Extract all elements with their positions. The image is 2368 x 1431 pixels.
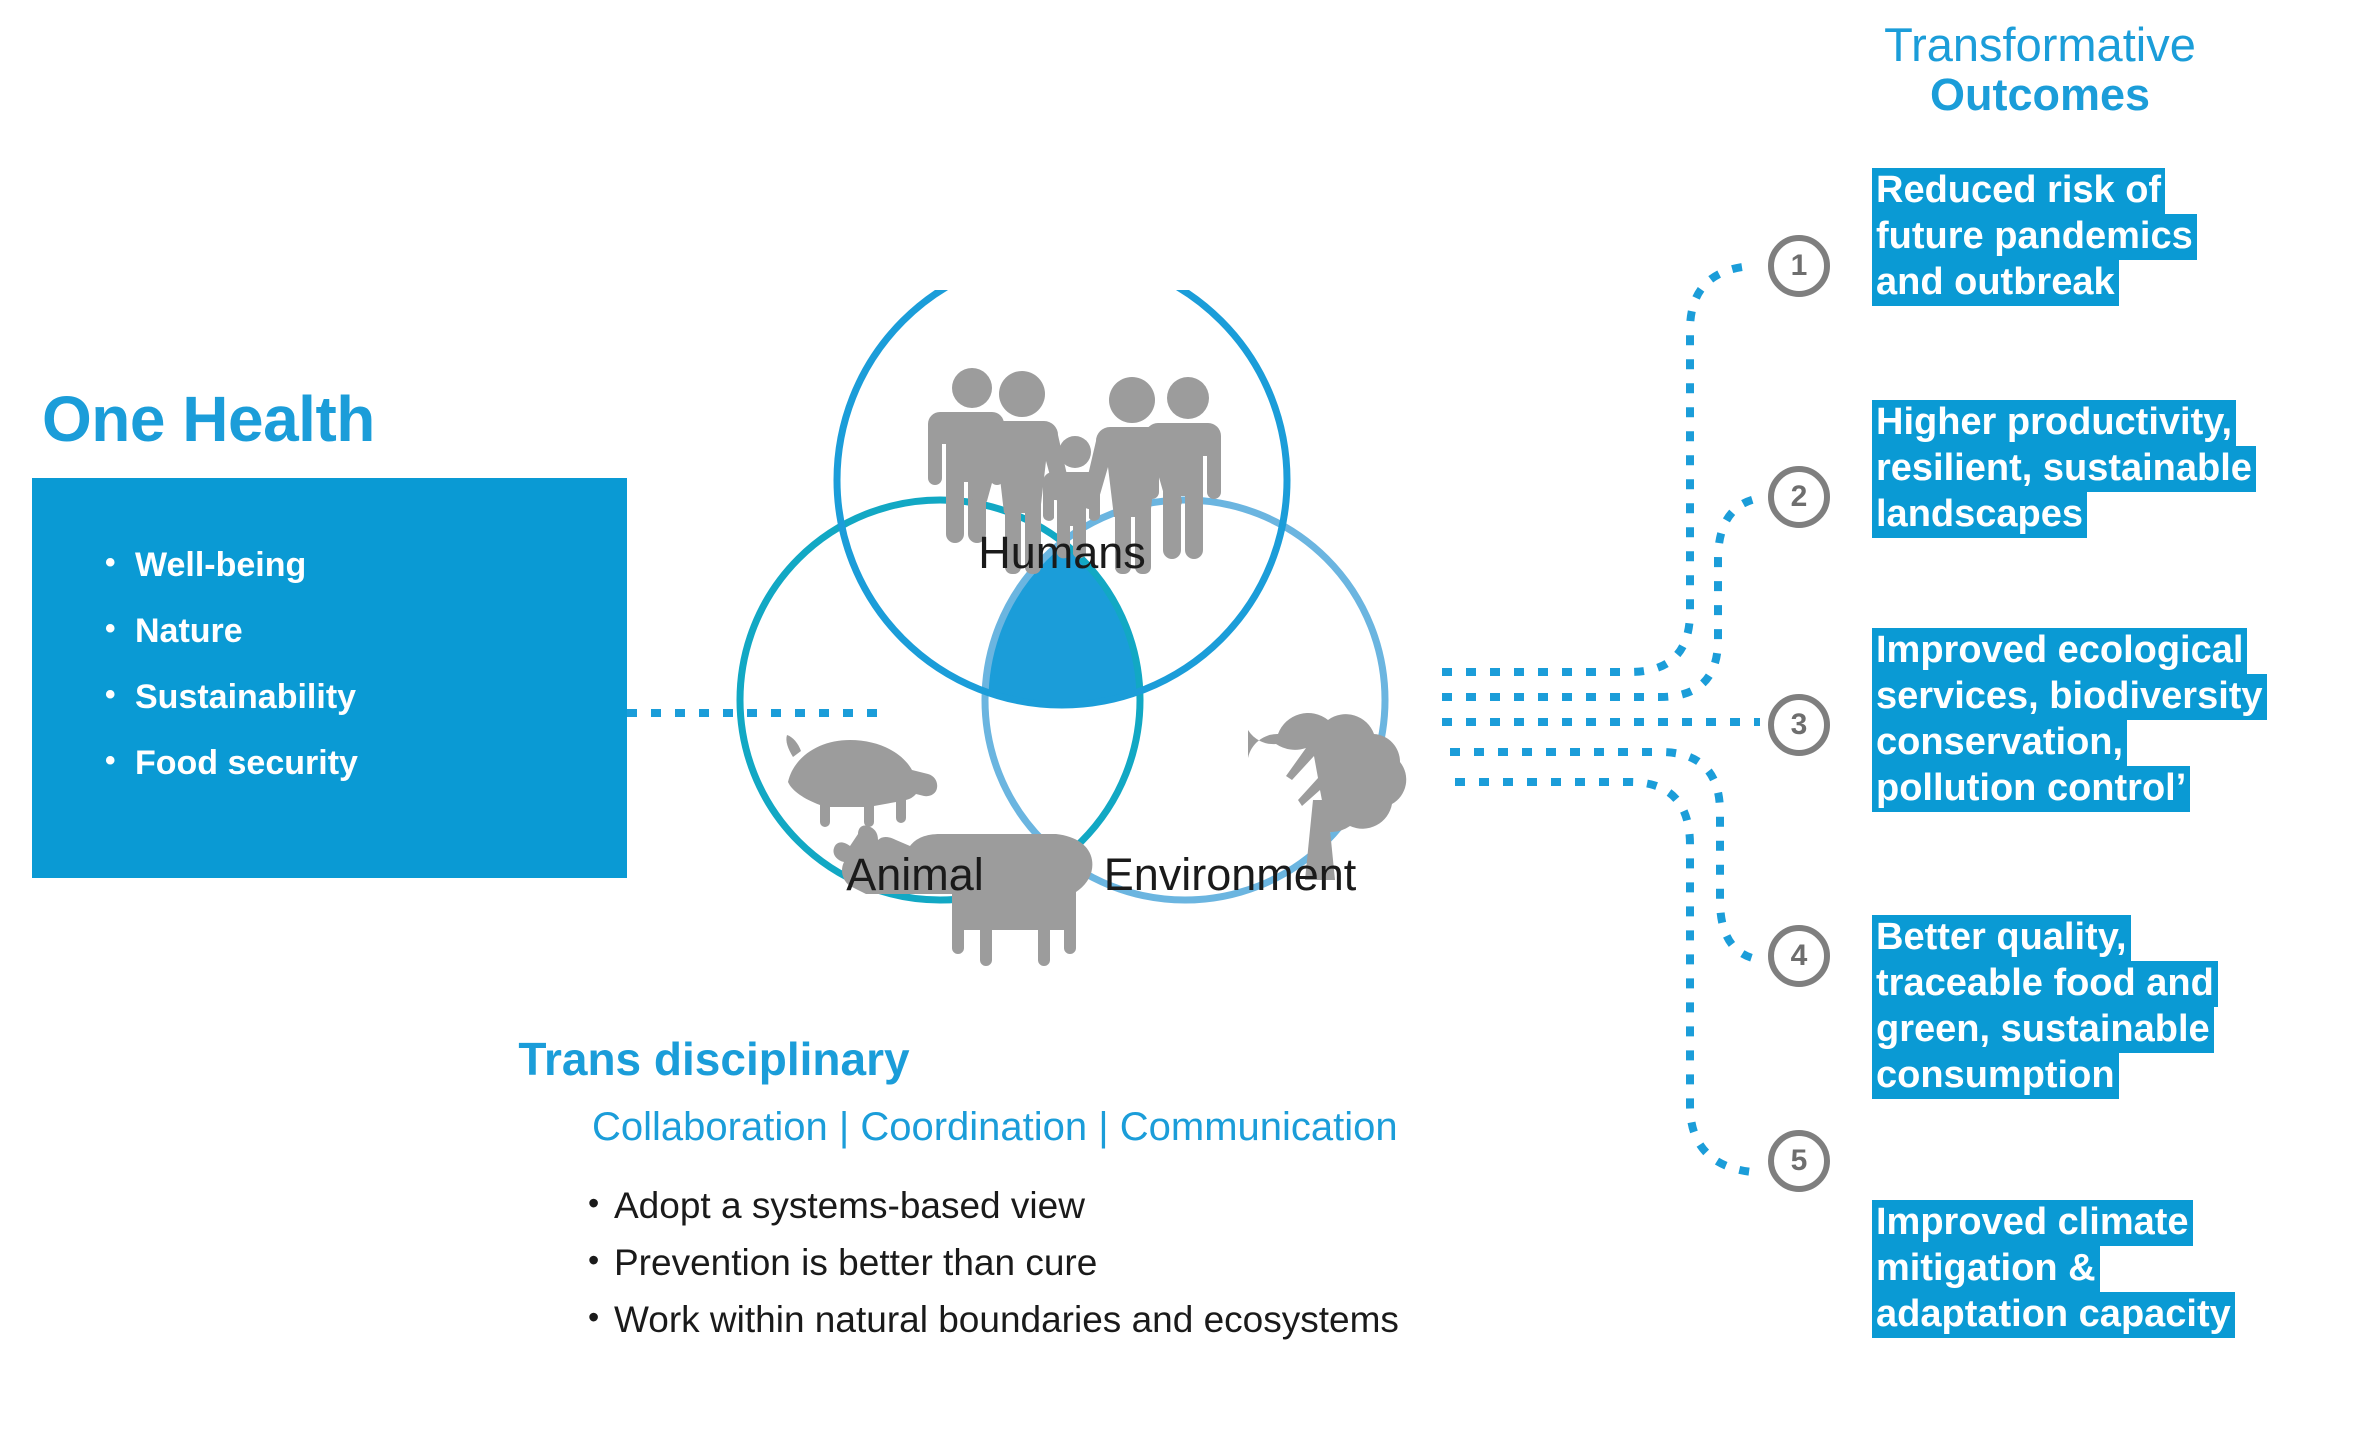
outcome-line: green, sustainable xyxy=(1872,1007,2214,1053)
outcome-line: pollution control’ xyxy=(1872,766,2190,812)
outcome-line: Better quality, xyxy=(1872,915,2131,961)
venn-diagram: Humans Animal Environment xyxy=(700,290,1420,1030)
diagram-canvas: One Health • Well-being • Nature • Susta… xyxy=(0,0,2368,1431)
trans-disciplinary-subtitle: Collaboration | Coordination | Communica… xyxy=(592,1105,1398,1150)
outcomes-header-line2: Outcomes xyxy=(1830,71,2250,120)
list-item: • Adopt a systems-based view xyxy=(588,1185,1408,1228)
list-item: • Well-being xyxy=(105,545,605,585)
one-health-title: One Health xyxy=(42,382,375,456)
outcome-text-block: Improved ecological services, biodiversi… xyxy=(1872,628,2342,812)
outcome-number-badge: 3 xyxy=(1768,694,1830,756)
bullet-icon: • xyxy=(588,1185,614,1222)
outcome-line: resilient, sustainable xyxy=(1872,446,2256,492)
list-item: • Nature xyxy=(105,611,605,651)
outcome-text-block: Better quality, traceable food and green… xyxy=(1872,915,2342,1099)
outcome-text-block: Improved climate mitigation & adaptation… xyxy=(1872,1200,2342,1338)
one-health-item-label: Nature xyxy=(135,611,243,651)
bullet-icon: • xyxy=(105,611,135,646)
one-health-list: • Well-being • Nature • Sustainability •… xyxy=(105,545,605,809)
outcome-line: adaptation capacity xyxy=(1872,1292,2235,1338)
outcome-line: future pandemics xyxy=(1872,214,2197,260)
outcome-line: Improved ecological xyxy=(1872,628,2247,674)
outcome-text-block: Reduced risk of future pandemics and out… xyxy=(1872,168,2342,306)
connector-to-outcome-5 xyxy=(1455,782,1752,1172)
outcome-line: conservation, xyxy=(1872,720,2127,766)
bullet-icon: • xyxy=(105,743,135,778)
outcome-line: traceable food and xyxy=(1872,961,2218,1007)
outcome-line: Reduced risk of xyxy=(1872,168,2165,214)
connector-to-outcome-4 xyxy=(1450,752,1762,960)
one-health-item-label: Well-being xyxy=(135,545,306,585)
venn-svg: Humans Animal Environment xyxy=(700,290,1420,1030)
outcome-number-badge: 2 xyxy=(1768,466,1830,528)
trans-bullet-label: Work within natural boundaries and ecosy… xyxy=(614,1299,1399,1342)
outcome-line: mitigation & xyxy=(1872,1246,2100,1292)
one-health-item-label: Food security xyxy=(135,743,358,783)
trans-bullet-label: Prevention is better than cure xyxy=(614,1242,1097,1285)
bullet-icon: • xyxy=(105,545,135,580)
outcome-text-block: Higher productivity, resilient, sustaina… xyxy=(1872,400,2342,538)
list-item: • Prevention is better than cure xyxy=(588,1242,1408,1285)
transformative-outcomes-header: Transformative Outcomes xyxy=(1830,20,2250,119)
outcome-line: Improved climate xyxy=(1872,1200,2193,1246)
connector-to-outcome-1 xyxy=(1442,266,1752,672)
connector-to-outcome-2 xyxy=(1442,498,1760,697)
bullet-icon: • xyxy=(588,1299,614,1336)
venn-label-environment: Environment xyxy=(1104,849,1357,900)
outcome-number-badge: 1 xyxy=(1768,235,1830,297)
trans-bullet-label: Adopt a systems-based view xyxy=(614,1185,1085,1228)
outcome-line: landscapes xyxy=(1872,492,2087,538)
venn-label-humans: Humans xyxy=(978,527,1146,578)
list-item: • Food security xyxy=(105,743,605,783)
outcome-number-badge: 4 xyxy=(1768,925,1830,987)
outcomes-header-line1: Transformative xyxy=(1830,20,2250,71)
list-item: • Sustainability xyxy=(105,677,605,717)
list-item: • Work within natural boundaries and eco… xyxy=(588,1299,1408,1342)
bullet-icon: • xyxy=(588,1242,614,1279)
one-health-item-label: Sustainability xyxy=(135,677,356,717)
outcome-line: Higher productivity, xyxy=(1872,400,2236,446)
outcome-line: and outbreak xyxy=(1872,260,2119,306)
outcome-line: services, biodiversity xyxy=(1872,674,2267,720)
outcome-number-badge: 5 xyxy=(1768,1130,1830,1192)
venn-label-animal: Animal xyxy=(846,849,984,900)
outcome-line: consumption xyxy=(1872,1053,2119,1099)
bullet-icon: • xyxy=(105,677,135,712)
trans-bullet-list: • Adopt a systems-based view • Preventio… xyxy=(588,1185,1408,1356)
